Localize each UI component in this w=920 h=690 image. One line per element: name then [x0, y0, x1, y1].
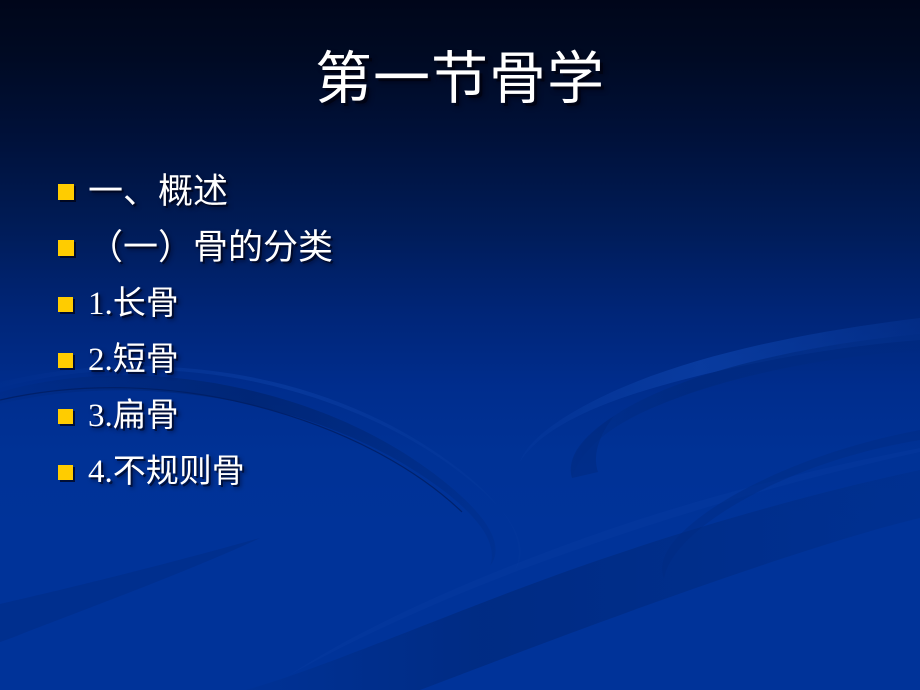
slide-title-text: 第一节骨学 — [315, 48, 605, 112]
list-item[interactable]: 1.长骨 — [0, 280, 920, 336]
square-bullet-icon — [58, 353, 73, 368]
bullet-list: 一、概述 （一）骨的分类 1.长骨 2.短骨 3.扁骨 4.不规则骨 — [0, 168, 920, 504]
list-item-label: 3.扁骨 — [88, 392, 179, 440]
square-bullet-icon — [58, 184, 74, 200]
list-item-label: 4.不规则骨 — [88, 448, 245, 496]
list-item-label: 一、概述 — [88, 168, 228, 216]
list-item-label: 2.短骨 — [88, 336, 179, 384]
list-item[interactable]: （一）骨的分类 — [0, 224, 920, 280]
slide-title: 第一节骨学 — [0, 48, 920, 112]
list-item[interactable]: 2.短骨 — [0, 336, 920, 392]
presentation-slide: 第一节骨学 一、概述 （一）骨的分类 1.长骨 2.短骨 3.扁骨 4.不规则骨 — [0, 0, 920, 690]
list-item[interactable]: 一、概述 — [0, 168, 920, 224]
square-bullet-icon — [58, 409, 73, 424]
list-item-label: （一）骨的分类 — [88, 224, 333, 272]
list-item[interactable]: 3.扁骨 — [0, 392, 920, 448]
list-item[interactable]: 4.不规则骨 — [0, 448, 920, 504]
square-bullet-icon — [58, 240, 74, 256]
square-bullet-icon — [58, 465, 73, 480]
list-item-label: 1.长骨 — [88, 280, 179, 328]
square-bullet-icon — [58, 297, 73, 312]
